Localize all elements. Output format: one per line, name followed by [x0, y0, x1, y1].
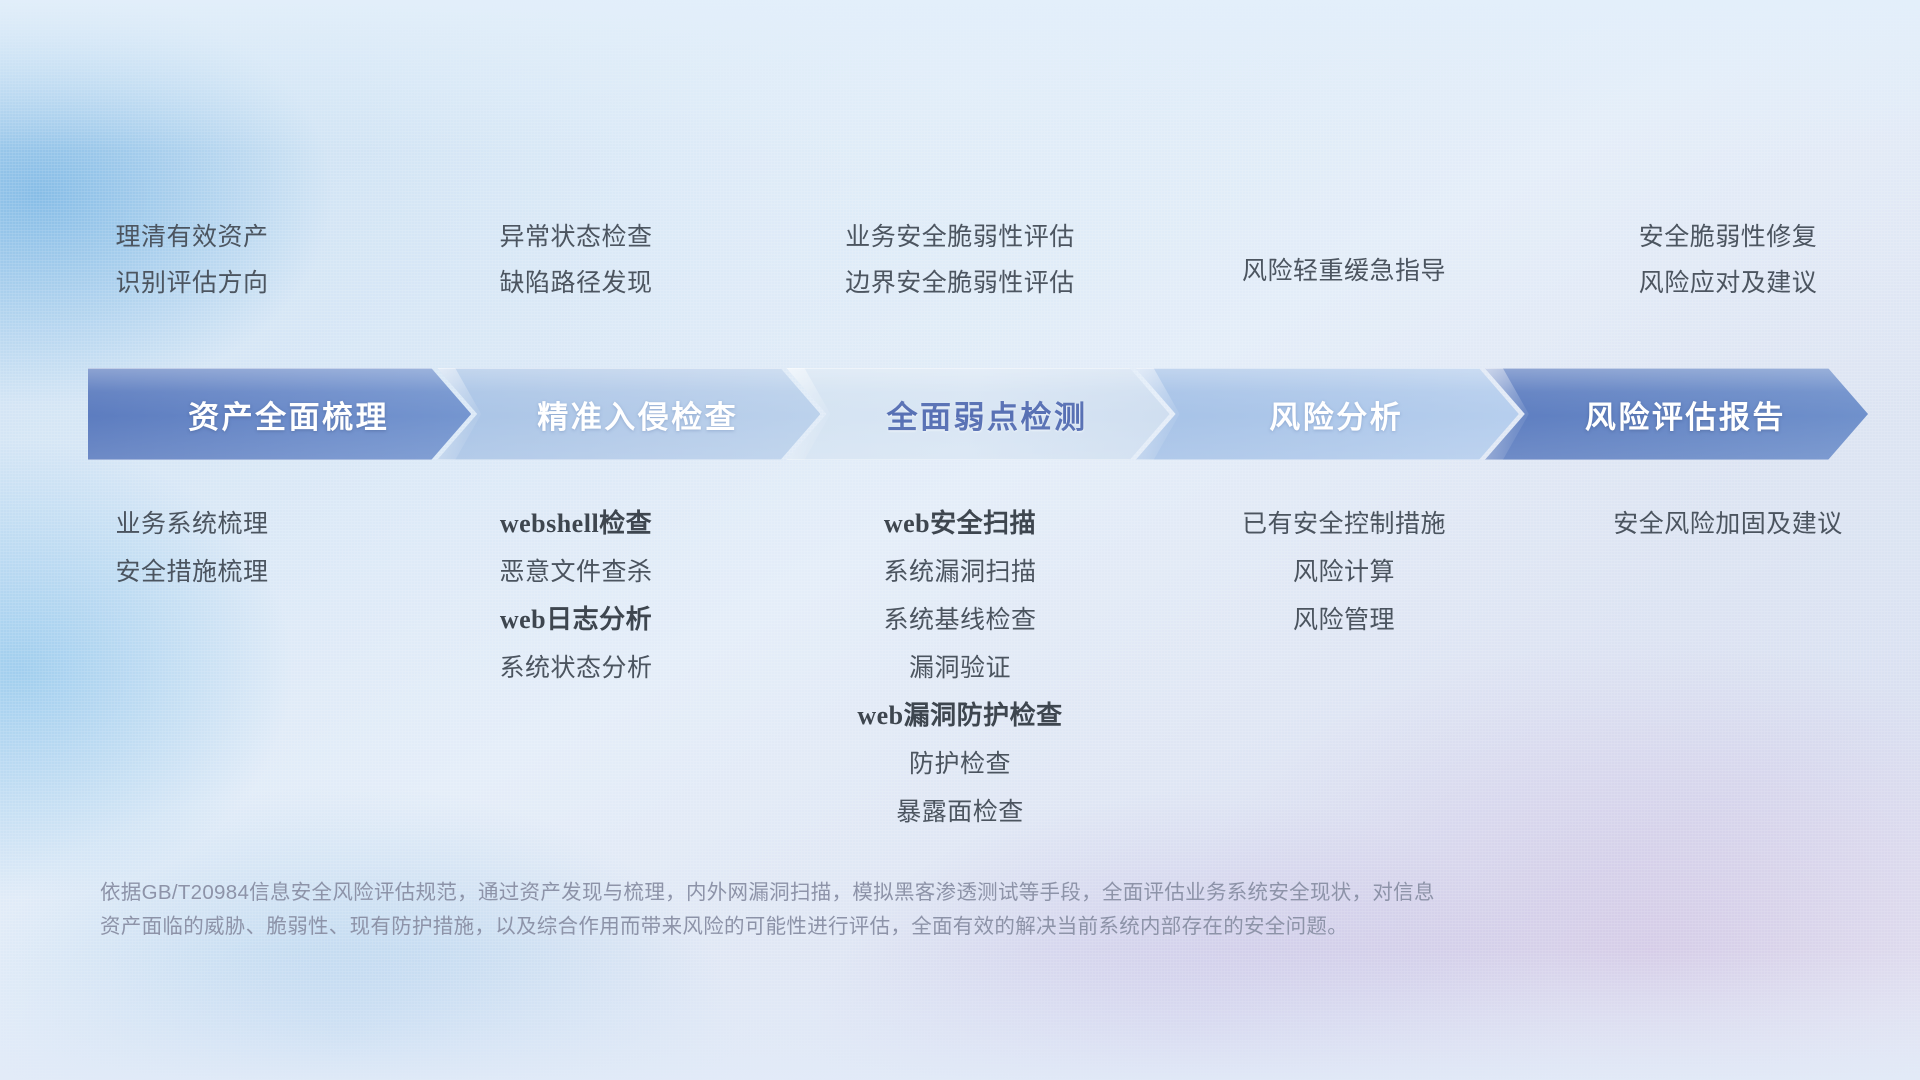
stage-chevron-2[interactable]: 精准入侵检查 [437, 368, 820, 460]
activity-item: 风险计算 [1293, 548, 1395, 596]
bottom-activities-row: 业务系统梳理安全措施梳理webshell检查恶意文件查杀web日志分析系统状态分… [0, 500, 1920, 830]
stage-label: 资产全面梳理 [170, 392, 389, 437]
stage-chevron-3[interactable]: 全面弱点检测 [786, 368, 1169, 460]
activity-item: 安全措施梳理 [115, 548, 268, 596]
activity-item: 恶意文件查杀 [499, 548, 652, 596]
activity-item: 暴露面检查 [896, 788, 1024, 836]
activity-item: 业务系统梳理 [115, 500, 268, 548]
top-outcome-item: 理清有效资产 [115, 214, 268, 260]
infographic-content: 理清有效资产识别评估方向异常状态检查缺陷路径发现业务安全脆弱性评估边界安全脆弱性… [0, 0, 1920, 1080]
chevron-shape: 全面弱点检测 [786, 368, 1169, 460]
activity-item: web安全扫描 [884, 500, 1036, 548]
activity-item: web日志分析 [500, 596, 652, 644]
chevron-shape: 资产全面梳理 [88, 368, 471, 460]
activity-item: web漏洞防护检查 [857, 692, 1062, 740]
bottom-activities-column: 安全风险加固及建议 [1536, 500, 1920, 830]
activity-item: 已有安全控制措施 [1242, 500, 1446, 548]
chevron-shape: 精准入侵检查 [437, 368, 820, 460]
top-outcome-item: 识别评估方向 [115, 260, 268, 306]
activity-item: 系统漏洞扫描 [883, 548, 1036, 596]
activity-item: 安全风险加固及建议 [1613, 500, 1843, 548]
activity-item: 风险管理 [1293, 596, 1395, 644]
footer-description: 依据GB/T20984信息安全风险评估规范，通过资产发现与梳理，内外网漏洞扫描，… [100, 876, 1600, 944]
bottom-activities-column: 已有安全控制措施风险计算风险管理 [1152, 500, 1536, 830]
process-chevron-banner: 资产全面梳理精准入侵检查全面弱点检测风险分析风险评估报告 [88, 368, 1868, 460]
top-outcomes-column: 理清有效资产识别评估方向 [0, 214, 384, 334]
stage-label: 风险分析 [1251, 392, 1403, 437]
chevron-shape: 风险评估报告 [1485, 368, 1868, 460]
top-outcome-item: 缺陷路径发现 [499, 260, 652, 306]
stage-chevron-1[interactable]: 资产全面梳理 [88, 368, 471, 460]
top-outcomes-column: 异常状态检查缺陷路径发现 [384, 214, 768, 334]
activity-item: 系统状态分析 [499, 644, 652, 692]
chevron-shape: 风险分析 [1136, 368, 1519, 460]
stage-chevron-4[interactable]: 风险分析 [1136, 368, 1519, 460]
bottom-activities-column: 业务系统梳理安全措施梳理 [0, 500, 384, 830]
stage-label: 精准入侵检查 [519, 392, 738, 437]
activity-item: webshell检查 [500, 500, 652, 548]
stage-label: 全面弱点检测 [869, 392, 1088, 437]
top-outcome-item: 风险应对及建议 [1639, 260, 1818, 306]
top-outcome-item: 边界安全脆弱性评估 [845, 260, 1075, 306]
top-outcomes-column: 风险轻重缓急指导 [1152, 214, 1536, 334]
stage-chevron-5[interactable]: 风险评估报告 [1485, 368, 1868, 460]
top-outcomes-column: 业务安全脆弱性评估边界安全脆弱性评估 [768, 214, 1152, 334]
footer-line-2: 资产面临的威胁、脆弱性、现有防护措施，以及综合作用而带来风险的可能性进行评估，全… [100, 910, 1600, 944]
bottom-activities-column: webshell检查恶意文件查杀web日志分析系统状态分析 [384, 500, 768, 830]
top-outcome-item: 业务安全脆弱性评估 [845, 214, 1075, 260]
top-outcome-item: 风险轻重缓急指导 [1242, 248, 1446, 294]
stage-label: 风险评估报告 [1567, 392, 1786, 437]
footer-line-1: 依据GB/T20984信息安全风险评估规范，通过资产发现与梳理，内外网漏洞扫描，… [100, 876, 1600, 910]
activity-item: 防护检查 [909, 740, 1011, 788]
bottom-activities-column: web安全扫描系统漏洞扫描系统基线检查漏洞验证web漏洞防护检查防护检查暴露面检… [768, 500, 1152, 830]
activity-item: 漏洞验证 [909, 644, 1011, 692]
top-outcome-item: 安全脆弱性修复 [1639, 214, 1818, 260]
top-outcomes-column: 安全脆弱性修复风险应对及建议 [1536, 214, 1920, 334]
activity-item: 系统基线检查 [883, 596, 1036, 644]
top-outcome-item: 异常状态检查 [499, 214, 652, 260]
top-outcomes-row: 理清有效资产识别评估方向异常状态检查缺陷路径发现业务安全脆弱性评估边界安全脆弱性… [0, 214, 1920, 334]
